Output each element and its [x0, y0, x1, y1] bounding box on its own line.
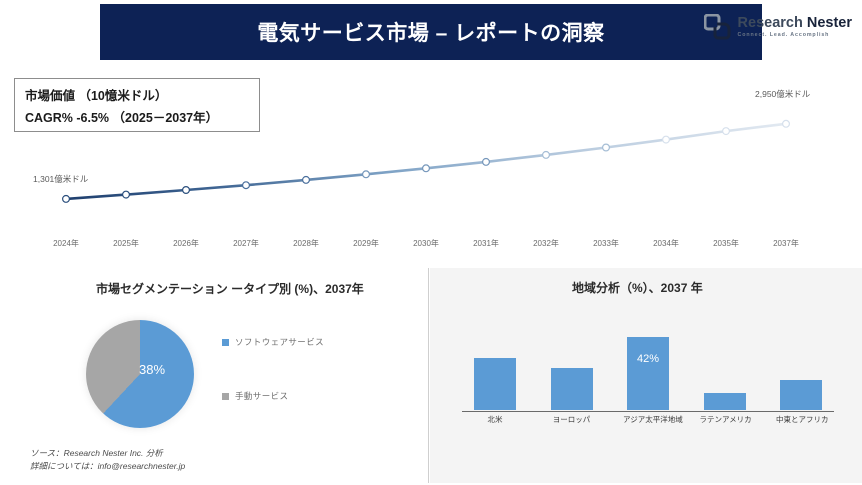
line-data-point	[183, 187, 190, 194]
line-data-point	[723, 128, 730, 135]
line-data-point	[63, 196, 70, 203]
bar-category-label: ラテンアメリカ	[700, 414, 750, 425]
regional-bar-chart: 42%	[470, 330, 826, 410]
x-axis-tick-label: 2034年	[653, 238, 679, 249]
x-axis-tick-label: 2035年	[713, 238, 739, 249]
legend-label: ソフトウェアサービス	[235, 336, 324, 348]
bar-column	[547, 330, 597, 410]
panel-divider	[428, 268, 429, 483]
bar-column	[470, 330, 520, 410]
end-value-label: 2,950億米ドル	[755, 88, 810, 100]
line-data-point	[543, 152, 550, 159]
x-axis-tick-label: 2025年	[113, 238, 139, 249]
bar-chart-baseline	[462, 411, 834, 412]
line-data-point	[483, 159, 490, 166]
x-axis-tick-label: 2028年	[293, 238, 319, 249]
line-chart-svg	[0, 60, 862, 260]
page-title: 電気サービス市場 – レポートの洞察	[257, 17, 604, 47]
line-data-point	[423, 165, 430, 172]
x-axis-tick-label: 2031年	[473, 238, 499, 249]
segmentation-title: 市場セグメンテーション ータイプ別 (%)、2037年	[96, 280, 364, 297]
bar-chart-x-axis: 北米ヨーロッパアジア太平洋地域ラテンアメリカ中東とアフリカ	[470, 414, 826, 425]
line-chart-x-axis: 2024年2025年2026年2027年2028年2029年2030年2031年…	[0, 238, 862, 260]
legend-item[interactable]: 手動サービス	[222, 390, 392, 402]
bar	[551, 368, 593, 410]
bar	[704, 393, 746, 410]
research-nester-logo-icon	[704, 14, 732, 40]
header-banner: 電気サービス市場 – レポートの洞察	[100, 4, 762, 60]
line-data-point	[363, 171, 370, 178]
bar	[780, 380, 822, 410]
source-line-1: ソース：Research Nester Inc. 分析	[30, 447, 185, 460]
bar: 42%	[627, 337, 669, 410]
logo-name: Research Nester	[738, 16, 852, 31]
bar-value-label: 42%	[627, 353, 669, 365]
bar	[474, 358, 516, 410]
x-axis-tick-label: 2026年	[173, 238, 199, 249]
bar-category-label: 中東とアフリカ	[776, 414, 826, 425]
x-axis-tick-label: 2024年	[53, 238, 79, 249]
legend-swatch-icon	[222, 339, 229, 346]
infographic-root: 電気サービス市場 – レポートの洞察 Research Nester Conne…	[0, 0, 862, 485]
source-note: ソース：Research Nester Inc. 分析 詳細については：info…	[30, 447, 185, 473]
pie-slice-percent-label: 38%	[139, 362, 165, 377]
x-axis-tick-label: 2037年	[773, 238, 799, 249]
line-data-point	[303, 177, 310, 184]
x-axis-tick-label: 2033年	[593, 238, 619, 249]
legend-swatch-icon	[222, 393, 229, 400]
bar-column: 42%	[623, 330, 673, 410]
x-axis-tick-label: 2032年	[533, 238, 559, 249]
x-axis-tick-label: 2029年	[353, 238, 379, 249]
line-data-point	[663, 136, 670, 143]
pie-legend: ソフトウェアサービス手動サービス	[222, 336, 392, 444]
legend-label: 手動サービス	[235, 390, 288, 402]
brand-logo: Research Nester Connect. Lead. Accomplis…	[704, 14, 852, 40]
source-line-2: 詳細については：info@researchnester.jp	[30, 460, 185, 473]
line-data-point	[603, 144, 610, 151]
start-value-label: 1,301億米ドル	[33, 173, 88, 185]
line-data-point	[123, 191, 130, 198]
logo-text: Research Nester Connect. Lead. Accomplis…	[738, 16, 852, 39]
bar-column	[776, 330, 826, 410]
bar-category-label: アジア太平洋地域	[623, 414, 673, 425]
legend-item[interactable]: ソフトウェアサービス	[222, 336, 392, 348]
line-data-point	[783, 120, 790, 127]
regional-analysis-title: 地域分析（%）、2037 年	[572, 279, 703, 296]
x-axis-tick-label: 2030年	[413, 238, 439, 249]
bar-category-label: ヨーロッパ	[547, 414, 597, 425]
bar-column	[700, 330, 750, 410]
line-data-point	[243, 182, 250, 189]
bar-category-label: 北米	[470, 414, 520, 425]
x-axis-tick-label: 2027年	[233, 238, 259, 249]
market-forecast-line-chart: 1,301億米ドル 2,950億米ドル 2024年2025年2026年2027年…	[0, 60, 862, 260]
logo-tagline: Connect. Lead. Accomplish	[738, 33, 852, 38]
